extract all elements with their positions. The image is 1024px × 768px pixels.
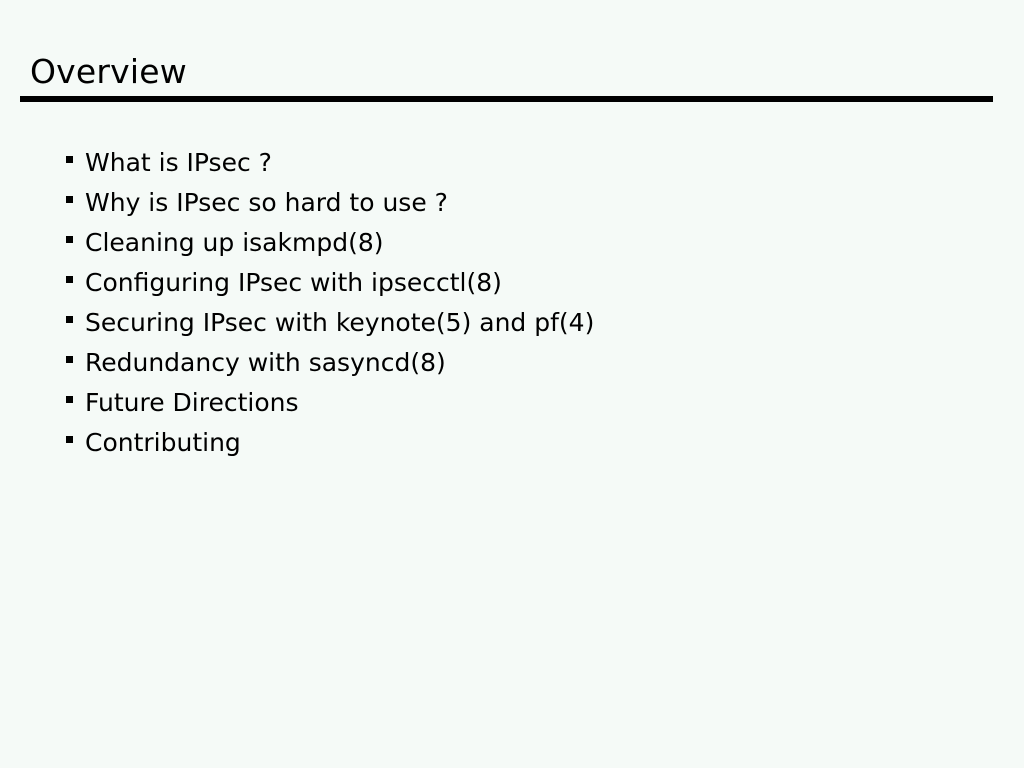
list-item-label: Configuring IPsec with ipsecctl(8) xyxy=(85,263,502,303)
list-item: Redundancy with sasyncd(8) xyxy=(66,343,594,383)
list-item: Configuring IPsec with ipsecctl(8) xyxy=(66,263,594,303)
square-bullet-icon xyxy=(66,316,73,323)
overview-bullet-list: What is IPsec ? Why is IPsec so hard to … xyxy=(66,143,594,463)
list-item: Cleaning up isakmpd(8) xyxy=(66,223,594,263)
list-item: Why is IPsec so hard to use ? xyxy=(66,183,594,223)
list-item-label: Redundancy with sasyncd(8) xyxy=(85,343,446,383)
list-item: Securing IPsec with keynote(5) and pf(4) xyxy=(66,303,594,343)
square-bullet-icon xyxy=(66,396,73,403)
list-item-label: What is IPsec ? xyxy=(85,143,272,183)
square-bullet-icon xyxy=(66,196,73,203)
square-bullet-icon xyxy=(66,156,73,163)
square-bullet-icon xyxy=(66,276,73,283)
square-bullet-icon xyxy=(66,436,73,443)
list-item-label: Why is IPsec so hard to use ? xyxy=(85,183,448,223)
list-item-label: Contributing xyxy=(85,423,241,463)
list-item: Contributing xyxy=(66,423,594,463)
title-divider xyxy=(20,96,993,102)
list-item: What is IPsec ? xyxy=(66,143,594,183)
page-title: Overview xyxy=(30,52,187,92)
list-item-label: Securing IPsec with keynote(5) and pf(4) xyxy=(85,303,594,343)
list-item: Future Directions xyxy=(66,383,594,423)
square-bullet-icon xyxy=(66,356,73,363)
square-bullet-icon xyxy=(66,236,73,243)
presentation-slide: Overview What is IPsec ? Why is IPsec so… xyxy=(0,0,1024,768)
list-item-label: Cleaning up isakmpd(8) xyxy=(85,223,384,263)
list-item-label: Future Directions xyxy=(85,383,299,423)
